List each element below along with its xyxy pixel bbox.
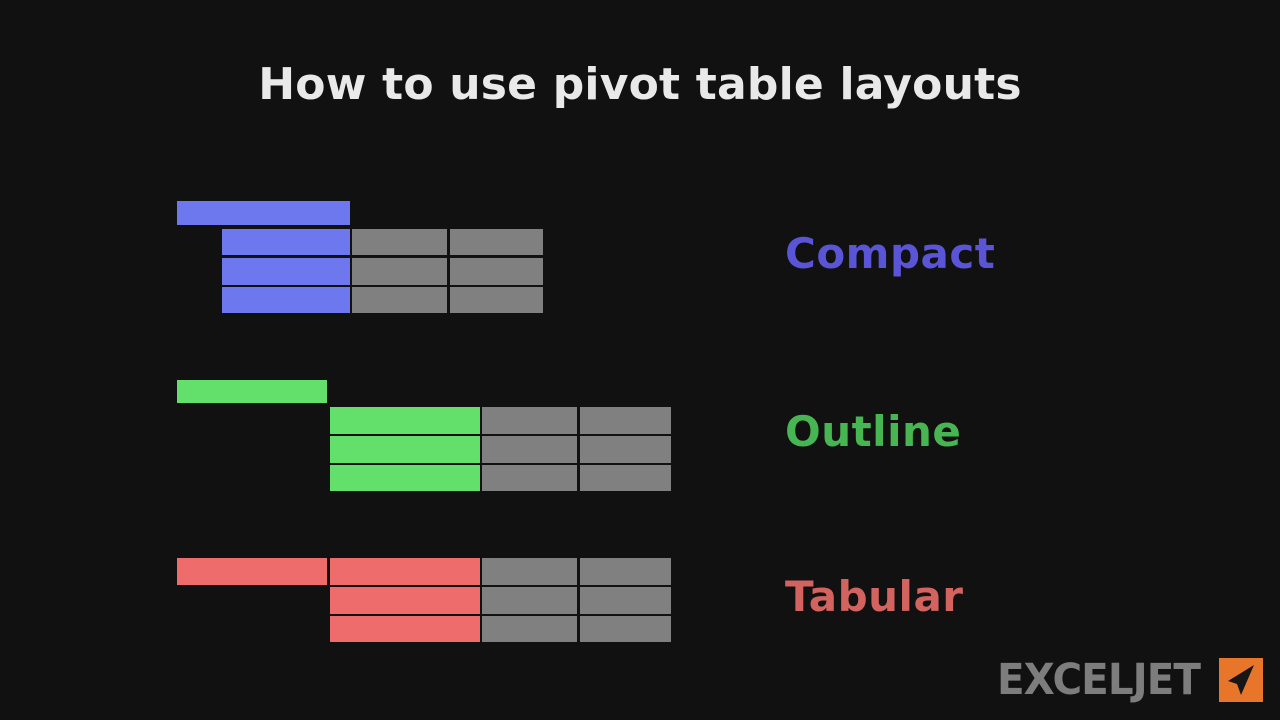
- exceljet-wordmark: EXCELJET: [997, 657, 1200, 703]
- tabular-row3-value1: [482, 616, 577, 642]
- outline-row1-label: [330, 407, 480, 434]
- jet-arrow-icon: [1219, 658, 1263, 702]
- compact-row2-value1: [352, 258, 447, 285]
- tabular-row2-value1: [482, 587, 577, 614]
- slide-canvas: How to use pivot table layouts CompactOu…: [0, 0, 1280, 720]
- outline-row3-label: [330, 465, 480, 491]
- compact-row1-label: [222, 229, 350, 255]
- tabular-row1-value1: [482, 558, 577, 585]
- compact-row2-label: [222, 258, 350, 285]
- outline-row3-value2: [580, 465, 671, 491]
- exceljet-logo: EXCELJET: [997, 655, 1263, 705]
- outline-row2-label: [330, 436, 480, 463]
- compact-row3-value2: [450, 287, 543, 313]
- outline-header-cell: [177, 380, 327, 403]
- outline-row1-value1: [482, 407, 577, 434]
- tabular-row2-value2: [580, 587, 671, 614]
- compact-header-cell: [177, 201, 350, 225]
- compact-row3-label: [222, 287, 350, 313]
- tabular-header-cell: [177, 558, 327, 585]
- page-title: How to use pivot table layouts: [0, 56, 1280, 114]
- compact-row1-value2: [450, 229, 543, 255]
- layout-label-tabular: Tabular: [785, 573, 964, 621]
- tabular-row2-label: [330, 587, 480, 614]
- compact-row2-value2: [450, 258, 543, 285]
- layout-label-outline: Outline: [785, 408, 961, 456]
- tabular-row1-label: [330, 558, 480, 585]
- outline-row2-value2: [580, 436, 671, 463]
- outline-row3-value1: [482, 465, 577, 491]
- layout-label-compact: Compact: [785, 230, 995, 278]
- outline-row2-value1: [482, 436, 577, 463]
- outline-row1-value2: [580, 407, 671, 434]
- compact-row3-value1: [352, 287, 447, 313]
- compact-row1-value1: [352, 229, 447, 255]
- tabular-row3-label: [330, 616, 480, 642]
- tabular-row1-value2: [580, 558, 671, 585]
- tabular-row3-value2: [580, 616, 671, 642]
